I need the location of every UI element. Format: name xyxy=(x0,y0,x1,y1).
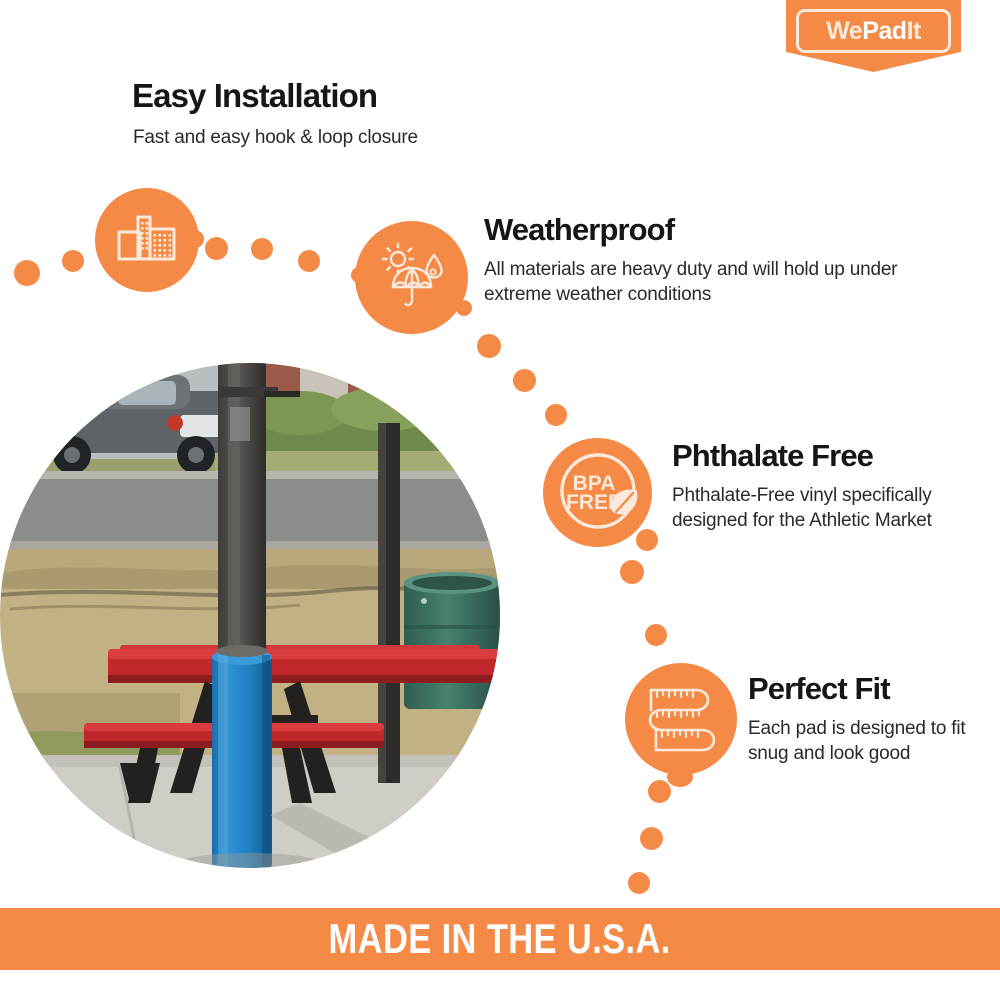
made-in-usa-banner: MADE IN THE U.S.A. xyxy=(0,908,1000,970)
path-dot xyxy=(251,238,273,260)
feature-icon-easy-installation[interactable] xyxy=(95,188,199,292)
logo-wordmark: WePadIt xyxy=(826,19,921,44)
path-dot xyxy=(545,404,567,426)
made-in-usa-text: MADE IN THE U.S.A. xyxy=(329,915,671,963)
path-dot xyxy=(298,250,320,272)
logo-word-we: We xyxy=(826,17,862,45)
brand-logo[interactable]: WePadIt xyxy=(786,0,961,72)
feature-description-easy-installation: Fast and easy hook & loop closure xyxy=(133,125,553,150)
path-dot xyxy=(628,872,650,894)
feature-description-perfect-fit: Each pad is designed to fit snug and loo… xyxy=(748,716,978,766)
circle-nub xyxy=(351,267,367,283)
path-dot xyxy=(640,827,663,850)
feature-title-easy-installation: Easy Installation xyxy=(132,79,377,114)
feature-title-weatherproof: Weatherproof xyxy=(484,214,674,247)
logo-word-pad: Pad xyxy=(862,17,906,45)
umbrella-sun-rain-icon xyxy=(376,242,448,314)
circle-nub xyxy=(667,767,693,787)
feature-title-perfect-fit: Perfect Fit xyxy=(748,673,890,706)
circle-nub xyxy=(456,300,472,316)
feature-icon-perfect-fit[interactable] xyxy=(625,663,737,775)
feature-title-phthalate-free: Phthalate Free xyxy=(672,440,873,473)
measuring-tape-icon xyxy=(640,678,722,760)
product-photo xyxy=(0,363,500,868)
feature-description-weatherproof: All materials are heavy duty and will ho… xyxy=(484,257,904,307)
path-dot xyxy=(645,624,667,646)
path-dot xyxy=(14,260,40,286)
building-icon xyxy=(116,213,178,267)
bpa-free-leaf-icon: BPA FREE xyxy=(552,447,644,539)
feature-description-phthalate-free: Phthalate-Free vinyl specifically design… xyxy=(672,483,937,533)
feature-icon-weatherproof[interactable] xyxy=(355,221,468,334)
logo-outline-box: WePadIt xyxy=(796,9,951,53)
circle-nub xyxy=(636,529,658,551)
path-dot xyxy=(477,334,501,358)
feature-icon-phthalate-free[interactable]: BPA FREE xyxy=(543,438,652,547)
path-dot xyxy=(62,250,84,272)
circle-nub xyxy=(186,230,204,248)
path-dot xyxy=(648,780,671,803)
path-dot xyxy=(620,560,644,584)
product-photo-image xyxy=(0,363,500,868)
path-dot xyxy=(205,237,228,260)
path-dot xyxy=(513,369,536,392)
infographic-page: WePadIt Easy Installation Fast and easy … xyxy=(0,0,1000,987)
logo-word-it: It xyxy=(907,17,921,45)
